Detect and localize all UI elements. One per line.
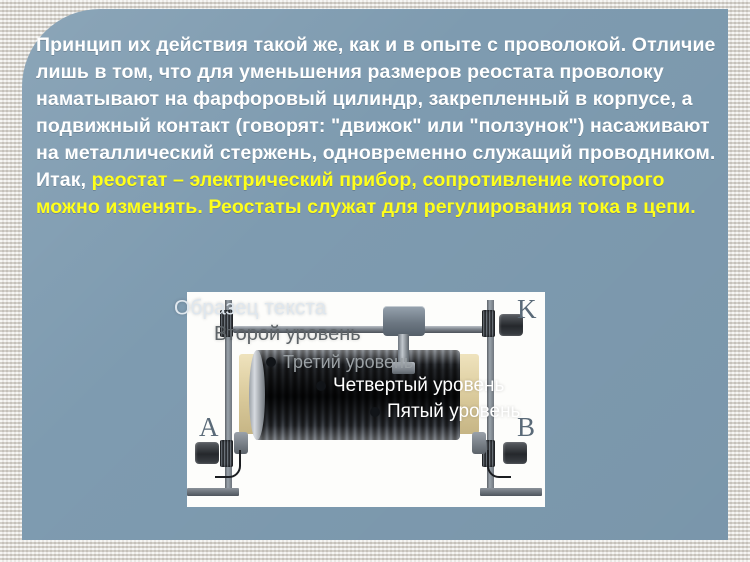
connection-wire-right xyxy=(487,450,511,478)
connection-wire-left xyxy=(215,450,241,478)
placeholder-level-4-label: Четвертый уровень xyxy=(333,375,504,396)
placeholder-level-2-label: Второй уровень xyxy=(214,324,361,346)
body-paragraph-plain: Принцип их действия такой же, как и в оп… xyxy=(36,34,716,191)
placeholder-level-5-label: Пятый уровень xyxy=(387,401,520,422)
placeholder-level-2[interactable]: Второй уровень xyxy=(214,323,594,346)
bullet-icon xyxy=(266,357,276,367)
slide-canvas: Принцип их действия такой же, как и в оп… xyxy=(0,0,750,562)
body-paragraph-highlighted: реостат – электрический прибор, сопротив… xyxy=(36,169,696,218)
placeholder-level-1[interactable]: Образец текста xyxy=(174,296,594,320)
placeholder-level-3[interactable]: Третий уровень xyxy=(266,351,594,373)
right-base-rail xyxy=(480,488,542,496)
screw-lug-right xyxy=(472,432,486,454)
placeholder-level-5[interactable]: Пятый уровень xyxy=(370,401,594,423)
bullet-icon xyxy=(316,381,326,391)
left-base-rail xyxy=(187,488,239,496)
placeholder-level-1-label: Образец текста xyxy=(174,296,326,319)
content-placeholder-list[interactable]: Образец текста Второй уровень Третий уро… xyxy=(174,296,594,423)
placeholder-level-3-label: Третий уровень xyxy=(283,351,413,371)
bullet-icon xyxy=(370,407,380,417)
placeholder-level-4[interactable]: Четвертый уровень xyxy=(316,375,594,397)
body-text-block: Принцип их действия такой же, как и в оп… xyxy=(36,32,726,221)
